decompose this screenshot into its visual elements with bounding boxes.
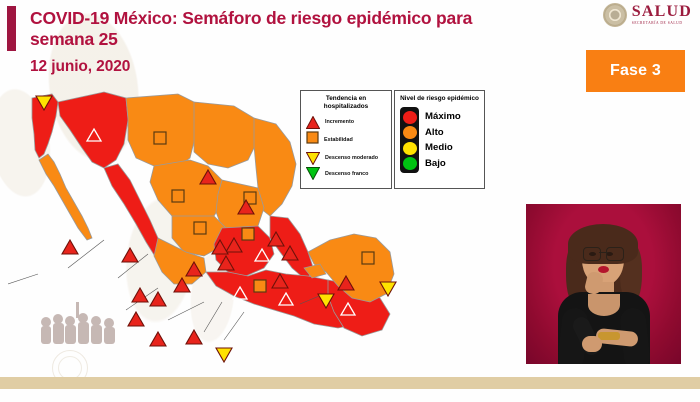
- logo-subtitle: SECRETARÍA DE SALUD: [632, 22, 692, 26]
- interpreter-bracelet: [598, 332, 620, 340]
- interpreter-neckline: [588, 294, 620, 316]
- state-durango-zacatecas: [150, 160, 224, 222]
- footer-accent-bar: [0, 377, 700, 389]
- mexico-risk-semaphore-map[interactable]: [8, 88, 408, 373]
- marker-incremento: [122, 248, 138, 262]
- sign-language-interpreter-video[interactable]: [526, 204, 681, 364]
- state-coahuila: [194, 102, 258, 168]
- interpreter-hand-lower: [582, 336, 602, 352]
- glasses-icon: [583, 247, 624, 260]
- interpreter-lips: [598, 266, 609, 273]
- risk-level-maximo: Máximo: [425, 112, 461, 122]
- mexico-eagle-seal-icon: [603, 3, 627, 27]
- logo-title: SALUD: [632, 4, 692, 20]
- legend-risk-title: Nivel de riesgo epidémico: [400, 95, 479, 103]
- marker-estabilidad: [172, 190, 184, 202]
- marker-estabilidad: [154, 132, 166, 144]
- marker-estabilidad: [254, 280, 266, 292]
- marker-incremento: [150, 332, 166, 346]
- phase-badge: Fase 3: [586, 50, 685, 92]
- marker-incremento: [128, 312, 144, 326]
- risk-level-medio: Medio: [425, 143, 461, 153]
- title-accent-bar: [7, 6, 16, 51]
- state-chihuahua: [126, 94, 196, 168]
- slide-canvas: COVID-19 México: Semáforo de riesgo epid…: [0, 0, 700, 402]
- marker-estabilidad: [362, 252, 374, 264]
- marker-incremento: [132, 288, 148, 302]
- marker-incremento: [150, 292, 166, 306]
- marker-descenso-moderado: [216, 348, 232, 362]
- state-baja-california-sur: [39, 154, 92, 240]
- risk-level-alto: Alto: [425, 128, 461, 138]
- marker-estabilidad: [194, 222, 206, 234]
- marker-incremento: [186, 330, 202, 344]
- page-title: COVID-19 México: Semáforo de riesgo epid…: [30, 8, 490, 51]
- page-date: 12 junio, 2020: [30, 58, 130, 76]
- marker-incremento: [62, 240, 78, 254]
- marker-estabilidad: [242, 228, 254, 240]
- risk-level-bajo: Bajo: [425, 159, 461, 169]
- salud-logo: SALUD SECRETARÍA DE SALUD: [603, 3, 692, 27]
